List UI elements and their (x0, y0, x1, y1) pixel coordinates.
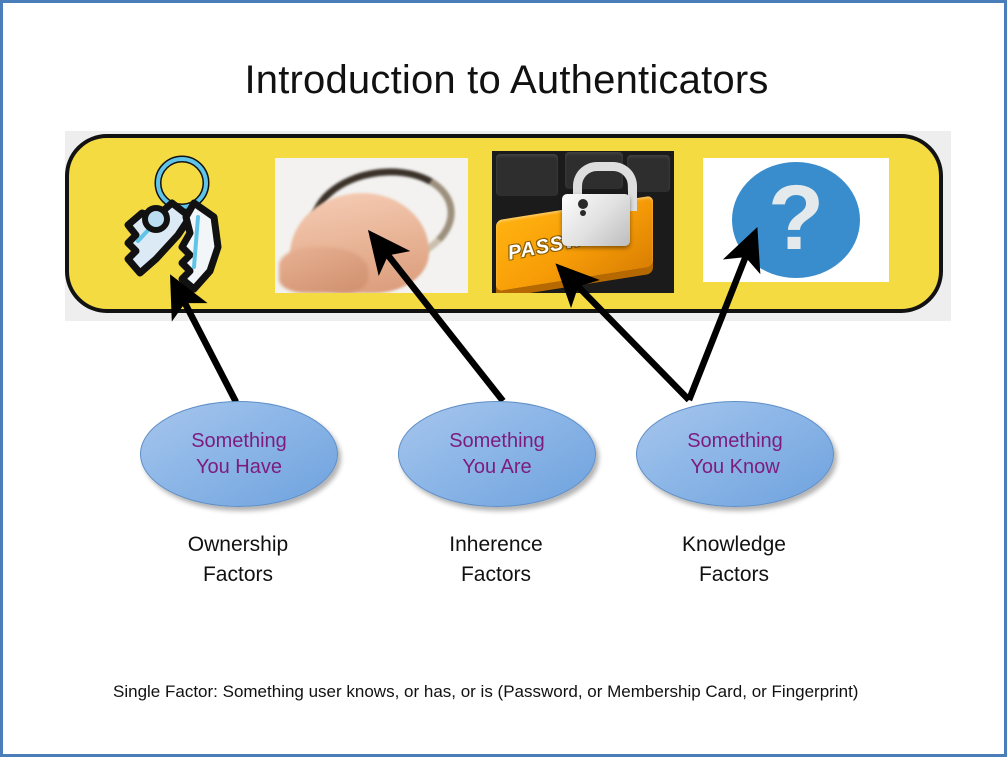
caption-line-2: Factors (118, 560, 358, 590)
keyboard-key (496, 154, 558, 197)
slide-canvas: Introduction to Authenticators (0, 0, 1007, 757)
caption-line-1: Ownership (118, 530, 358, 560)
ellipse-line-2: You Have (196, 454, 282, 480)
factor-ellipse-something-you-have[interactable]: Something You Have (140, 401, 338, 507)
page-title: Introduction to Authenticators (3, 58, 1007, 103)
caption-knowledge-factors: Knowledge Factors (614, 530, 854, 590)
ellipse-line-1: Something (449, 428, 545, 454)
keyboard-artwork: PASSWORD (492, 151, 674, 293)
fingerprint-photo (275, 158, 468, 293)
caption-line-2: Factors (614, 560, 854, 590)
caption-inherence-factors: Inherence Factors (376, 530, 616, 590)
ellipse-line-1: Something (191, 428, 287, 454)
question-mark-icon: ? (768, 172, 824, 264)
factor-definitions-notes: Single Factor: Something user knows, or … (113, 630, 858, 757)
keys-icon (98, 155, 243, 295)
factor-ellipse-something-you-know[interactable]: Something You Know (636, 401, 834, 507)
note-single-factor: Single Factor: Something user knows, or … (113, 680, 858, 705)
caption-line-1: Inherence (376, 530, 616, 560)
finger-knuckle (279, 247, 368, 293)
ellipse-line-1: Something (687, 428, 783, 454)
padlock-body (562, 194, 630, 246)
factor-ellipse-something-you-are[interactable]: Something You Are (398, 401, 596, 507)
caption-line-1: Knowledge (614, 530, 854, 560)
fingerprint-artwork (275, 158, 468, 293)
password-key-photo: PASSWORD (492, 151, 674, 293)
question-mark-artwork: ? (703, 158, 889, 282)
caption-line-2: Factors (376, 560, 616, 590)
ellipse-line-2: You Are (462, 454, 531, 480)
ellipse-line-2: You Know (690, 454, 779, 480)
question-mark-photo: ? (703, 158, 889, 282)
caption-ownership-factors: Ownership Factors (118, 530, 358, 590)
